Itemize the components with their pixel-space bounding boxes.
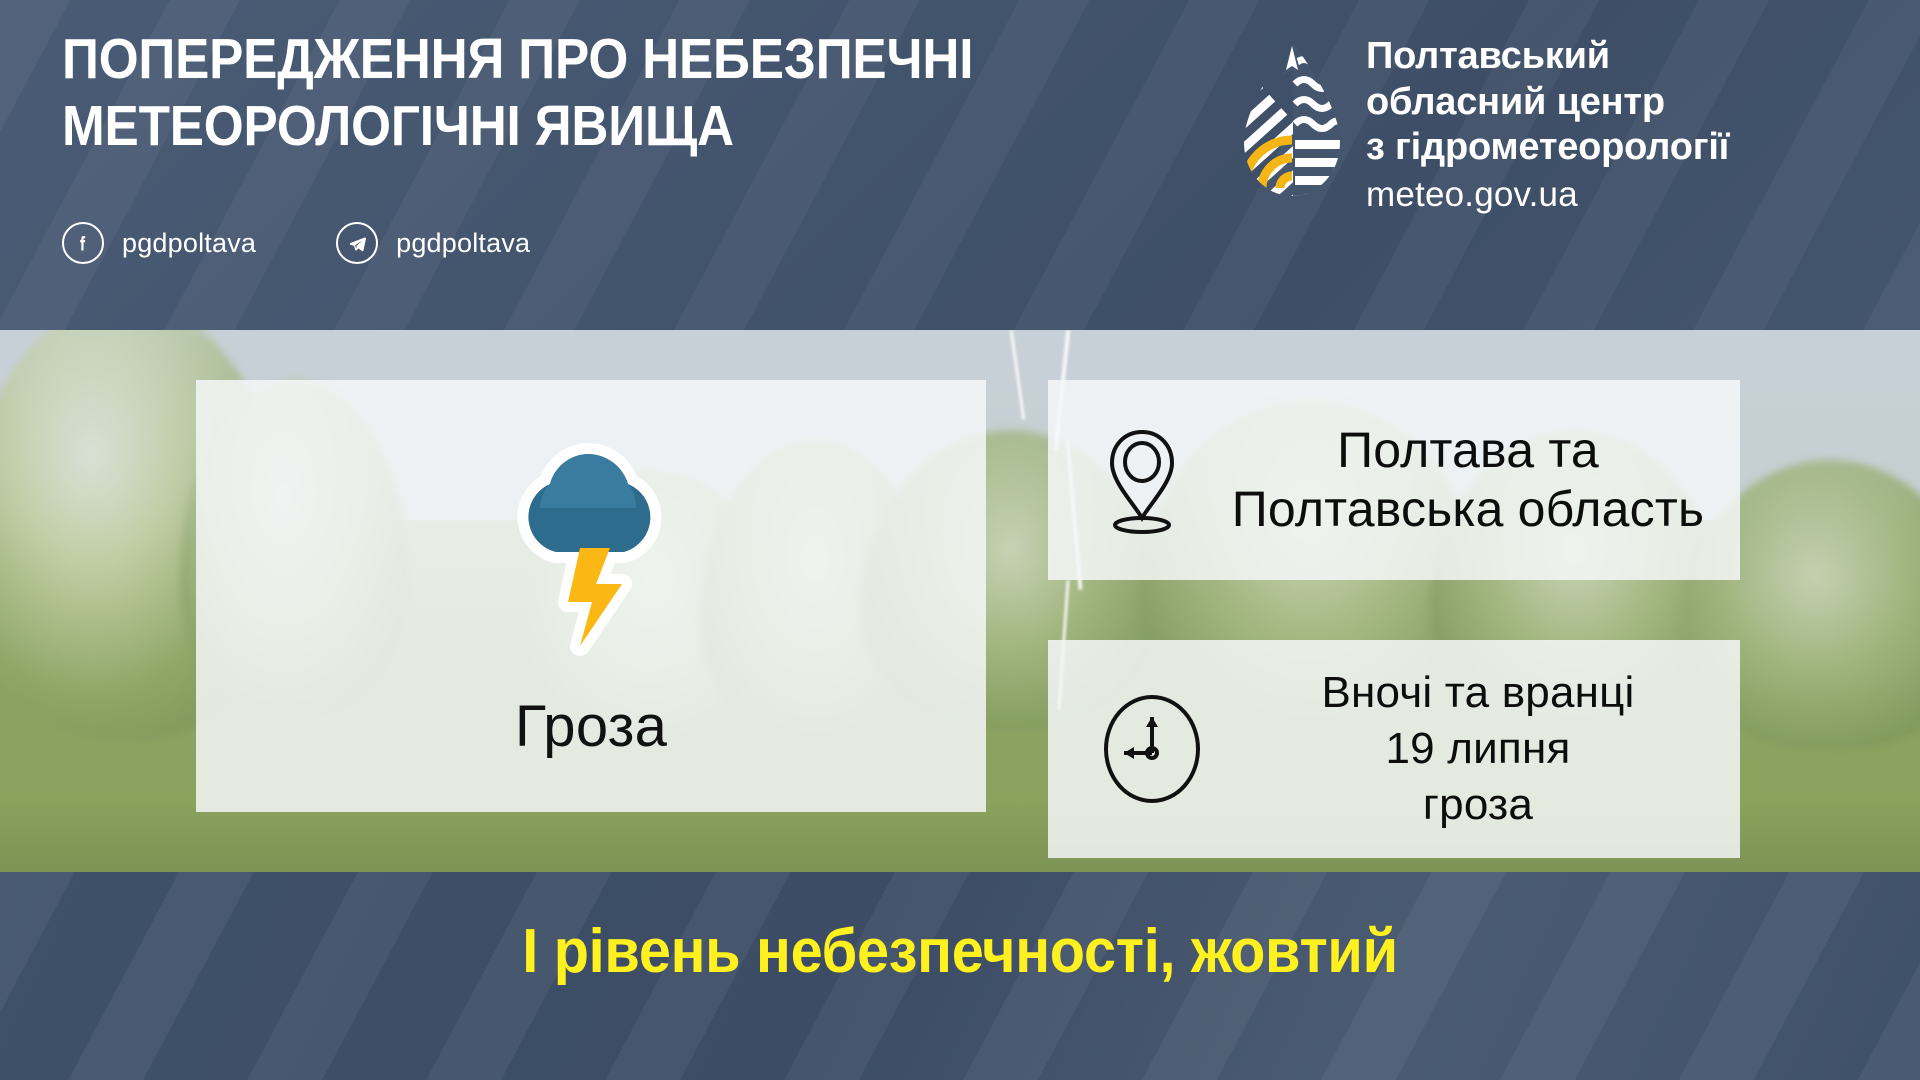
page-title: ПОПЕРЕДЖЕННЯ ПРО НЕБЕЗПЕЧНІ МЕТЕОРОЛОГІЧ… [62,26,1124,159]
infographic-root: ПОПЕРЕДЖЕННЯ ПРО НЕБЕЗПЕЧНІ МЕТЕОРОЛОГІЧ… [0,0,1920,1080]
phenomenon-label: Гроза [515,693,667,760]
location-card: Полтава та Полтавська область [1048,380,1740,580]
logo-website-url: meteo.gov.ua [1366,174,1729,216]
location-line-2: Полтавська область [1220,480,1716,539]
location-line-1: Полтава та [1220,421,1716,480]
facebook-icon [62,222,104,264]
hydrometeorology-droplet-logo-icon [1240,40,1344,200]
organization-logo: Полтавський обласний центр з гідрометеор… [1240,34,1729,216]
footer-band: І рівень небезпечності, жовтий [0,872,1920,1080]
social-links: pgdpoltava pgdpoltava [62,222,530,264]
time-card: Вночі та вранці 19 липня гроза [1048,640,1740,858]
time-line-3: гроза [1240,777,1716,833]
social-link-facebook[interactable]: pgdpoltava [62,222,256,264]
clock-icon [1100,691,1204,807]
time-line-1: Вночі та вранці [1240,665,1716,721]
danger-level-text: І рівень небезпечності, жовтий [67,916,1853,987]
thunderstorm-cloud-lightning-icon [484,432,699,667]
location-text: Полтава та Полтавська область [1220,421,1716,539]
social-link-telegram[interactable]: pgdpoltava [336,222,530,264]
header-band: ПОПЕРЕДЖЕННЯ ПРО НЕБЕЗПЕЧНІ МЕТЕОРОЛОГІЧ… [0,0,1920,330]
logo-line-3: з гідрометеорології [1366,125,1729,171]
telegram-handle: pgdpoltava [396,228,530,259]
facebook-handle: pgdpoltava [122,228,256,259]
logo-line-1: Полтавський [1366,34,1729,80]
telegram-icon [336,222,378,264]
time-text: Вночі та вранці 19 липня гроза [1240,665,1716,834]
logo-text: Полтавський обласний центр з гідрометеор… [1366,34,1729,216]
phenomenon-card: Гроза [196,380,986,812]
time-line-2: 19 липня [1240,721,1716,777]
logo-line-2: обласний центр [1366,80,1729,126]
map-pin-icon [1100,426,1184,534]
